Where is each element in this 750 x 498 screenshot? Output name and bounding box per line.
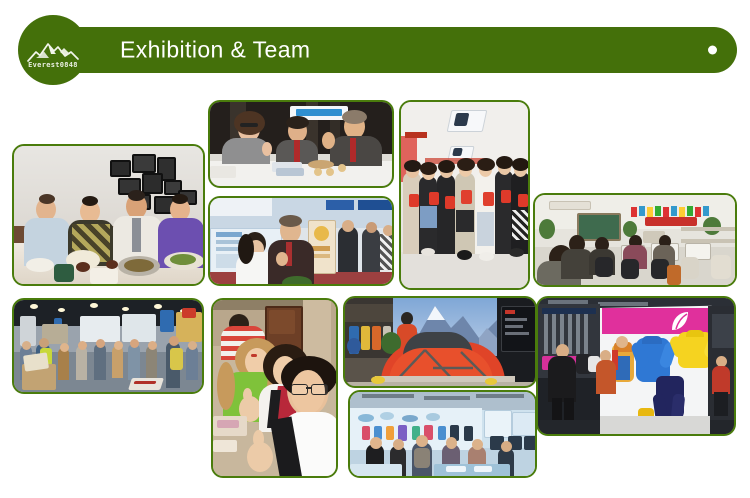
photo-artwork bbox=[401, 102, 528, 288]
photo-artwork bbox=[14, 146, 203, 284]
header-banner-bar: Exhibition & Team bbox=[55, 27, 737, 73]
photo-artwork bbox=[213, 300, 336, 476]
photo-artwork bbox=[350, 392, 535, 476]
page-root: Exhibition & Team Everest0848 bbox=[0, 0, 750, 498]
photo-booth-discussion[interactable]: 客户洽谈 client discussion at trade fair bbox=[208, 196, 394, 286]
photo-gear-booth[interactable]: Outdoor equipment booth visitors bbox=[348, 390, 537, 478]
photo-selfie-group[interactable]: Selfie with international partners bbox=[211, 298, 338, 478]
photo-artwork bbox=[535, 195, 735, 285]
header-dot-icon bbox=[708, 46, 717, 55]
photo-office-workspace[interactable]: Sales office workspace bbox=[533, 193, 737, 287]
photo-expo-crowd[interactable]: Outdoor gear exhibition hall crowd bbox=[12, 298, 204, 394]
photo-negotiation-table[interactable]: Business negotiation at exhibition booth bbox=[208, 100, 394, 188]
brand-leaf-icon bbox=[666, 310, 692, 332]
photo-tent-display[interactable]: Red dome tent product display bbox=[343, 296, 537, 388]
photo-artwork bbox=[14, 300, 202, 392]
page-header: Exhibition & Team Everest0848 bbox=[0, 0, 750, 96]
photo-team-red-envelopes[interactable]: Company team group photo with red envelo… bbox=[399, 100, 530, 290]
page-title: Exhibition & Team bbox=[120, 37, 310, 64]
photo-artwork bbox=[210, 102, 392, 186]
photo-apparel-booth[interactable]: Sportswear exhibition stand bbox=[536, 296, 736, 436]
photo-artwork bbox=[538, 298, 734, 434]
photo-artwork bbox=[210, 198, 392, 284]
photo-artwork bbox=[345, 298, 535, 386]
brand-name: Everest0848 bbox=[28, 61, 78, 69]
brand-logo[interactable]: Everest0848 bbox=[18, 15, 88, 85]
photo-dinner-meeting[interactable]: Team dinner with overseas clients at res… bbox=[12, 144, 205, 286]
